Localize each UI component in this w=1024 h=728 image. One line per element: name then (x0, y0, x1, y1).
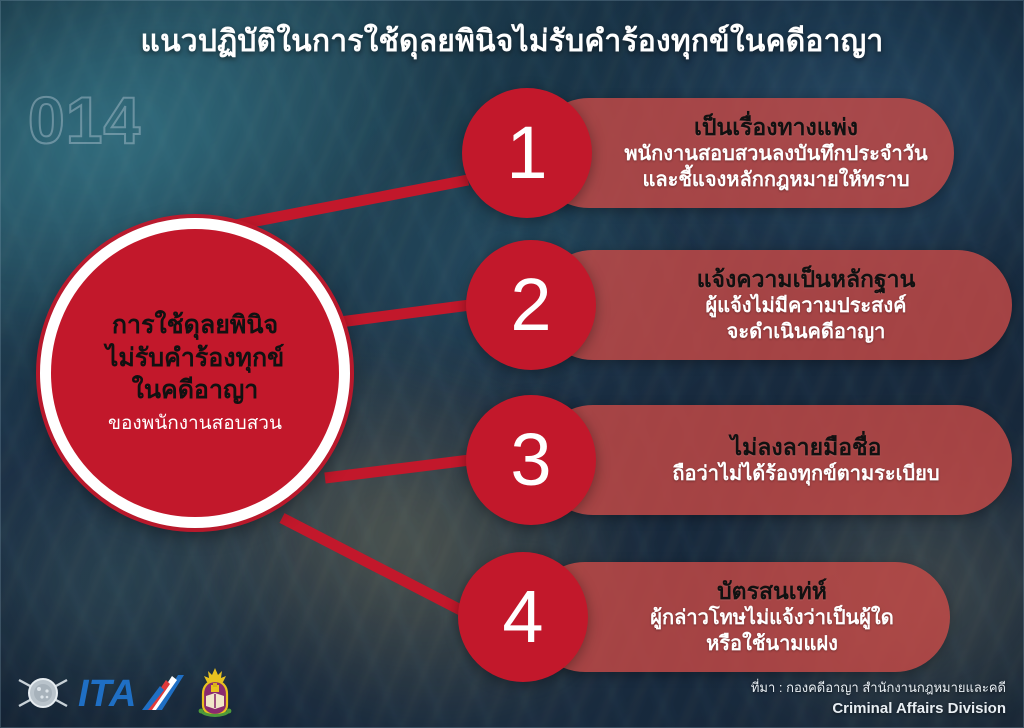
item-body-line-1: พนักงานสอบสวนลงบันทึกประจำวัน (624, 141, 927, 167)
connector-line-2 (340, 305, 470, 322)
item-text-3: ไม่ลงลายมือชื่อ ถือว่าไม่ได้ร้องทุกข์ตาม… (606, 405, 1006, 515)
ita-logo-label: ITA (78, 673, 136, 715)
center-hub: การใช้ดุลยพินิจ ไม่รับคำร้องทุกข์ ในคดีอ… (40, 218, 350, 528)
item-number-badge-2: 2 (466, 240, 596, 370)
source-attribution: ที่มา : กองคดีอาญา สำนักงานกฎหมายและคดี … (751, 679, 1006, 720)
item-body-line-1: ถือว่าไม่ได้ร้องทุกข์ตามระเบียบ (672, 461, 939, 487)
infographic-poster: แนวปฏิบัติในการใช้ดุลยพินิจไม่รับคำร้องท… (0, 0, 1024, 728)
item-row-2[interactable]: 2 แจ้งความเป็นหลักฐาน ผู้แจ้งไม่มีความปร… (466, 240, 1014, 370)
hub-line-2: ไม่รับคำร้องทุกข์ (106, 342, 284, 375)
item-row-4[interactable]: 4 บัตรสนเท่ห์ ผู้กล่าวโทษไม่แจ้งว่าเป็นผ… (458, 552, 952, 682)
item-text-4: บัตรสนเท่ห์ ผู้กล่าวโทษไม่แจ้งว่าเป็นผู้… (598, 562, 946, 672)
item-heading-2: แจ้งความเป็นหลักฐาน (697, 265, 916, 294)
page-title: แนวปฏิบัติในการใช้ดุลยพินิจไม่รับคำร้องท… (0, 18, 1024, 65)
item-body-line-1: ผู้กล่าวโทษไม่แจ้งว่าเป็นผู้ใด (650, 605, 893, 631)
item-text-2: แจ้งความเป็นหลักฐาน ผู้แจ้งไม่มีความประส… (606, 250, 1006, 360)
ita-logo: ITA (78, 670, 186, 716)
footer-logos: ITA (16, 666, 236, 720)
item-heading-1: เป็นเรื่องทางแพ่ง (694, 113, 858, 142)
item-body-line-2: หรือใช้นามแฝง (706, 631, 838, 657)
item-row-1[interactable]: 1 เป็นเรื่องทางแพ่ง พนักงานสอบสวนลงบันทึ… (462, 88, 957, 218)
connector-line-4 (282, 518, 480, 620)
item-body-line-1: ผู้แจ้งไม่มีความประสงค์ (705, 293, 906, 319)
item-number-badge-1: 1 (462, 88, 592, 218)
hub-line-1: การใช้ดุลยพินิจ (112, 309, 278, 342)
hub-subtitle: ของพนักงานสอบสวน (108, 411, 282, 437)
hub-line-3: ในคดีอาญา (132, 374, 259, 407)
connector-line-1 (210, 180, 468, 230)
royal-crest-logo (194, 667, 236, 719)
source-thai: ที่มา : กองคดีอาญา สำนักงานกฎหมายและคดี (751, 679, 1006, 698)
item-heading-4: บัตรสนเท่ห์ (717, 577, 827, 606)
police-emblem-logo (16, 666, 70, 720)
item-body-line-2: จะดำเนินคดีอาญา (727, 319, 886, 345)
source-english: Criminal Affairs Division (751, 698, 1006, 720)
item-heading-3: ไม่ลงลายมือชื่อ (731, 433, 882, 462)
item-number-badge-4: 4 (458, 552, 588, 682)
item-body-line-2: และชี้แจงหลักกฎหมายให้ทราบ (642, 167, 909, 193)
item-row-3[interactable]: 3 ไม่ลงลายมือชื่อ ถือว่าไม่ได้ร้องทุกข์ต… (466, 395, 1014, 525)
item-number-badge-3: 3 (466, 395, 596, 525)
connector-line-3 (325, 460, 470, 478)
item-text-1: เป็นเรื่องทางแพ่ง พนักงานสอบสวนลงบันทึกป… (602, 98, 950, 208)
